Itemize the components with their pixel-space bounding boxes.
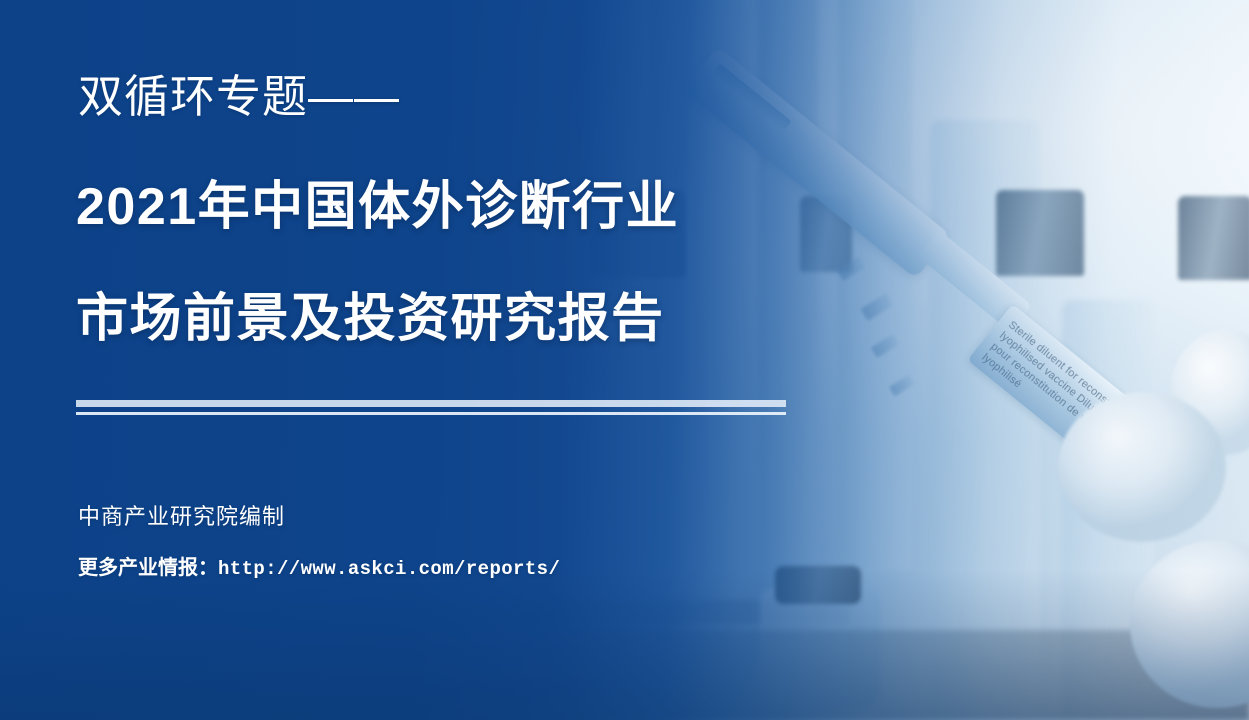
divider-rule-thin bbox=[76, 412, 786, 415]
publisher-byline: 中商产业研究院编制 bbox=[78, 506, 285, 528]
more-info-label: 更多产业情报： bbox=[78, 557, 218, 579]
more-info-line: 更多产业情报：http://www.askci.com/reports/ bbox=[78, 558, 560, 579]
more-info-url[interactable]: http://www.askci.com/reports/ bbox=[218, 558, 560, 580]
page-title-line-2: 市场前景及投资研究报告 bbox=[76, 293, 665, 345]
report-cover-slide: Sterile diluent for reconstitution of ly… bbox=[0, 0, 1249, 720]
kicker-text: 双循环专题—— bbox=[78, 74, 400, 119]
cover-text-layer: 双循环专题—— 2021年中国体外诊断行业 市场前景及投资研究报告 中商产业研究… bbox=[0, 0, 1249, 720]
divider-rule-thick bbox=[76, 400, 786, 407]
page-title-line-1: 2021年中国体外诊断行业 bbox=[76, 181, 679, 233]
